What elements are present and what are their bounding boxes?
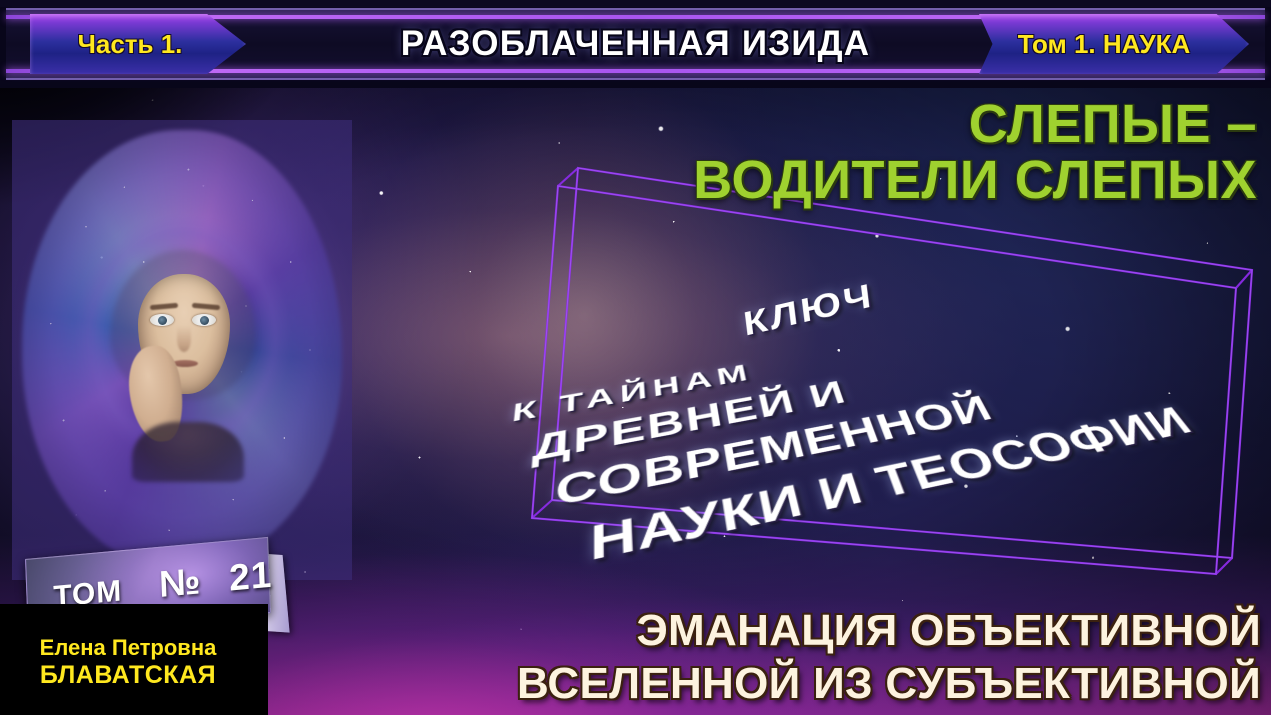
badge-volume-science[interactable]: Том 1. НАУКА <box>979 14 1249 74</box>
portrait-face <box>108 250 258 460</box>
author-name: Елена Петровна БЛАВАТСКАЯ <box>0 636 256 689</box>
portrait-pupil-right <box>200 316 209 325</box>
author-first-name: Елена Петровна <box>0 636 256 661</box>
frame-top-edge <box>0 0 1271 7</box>
header-bar-container: РАЗОБЛАЧЕННАЯ ИЗИДА Часть 1. Том 1. НАУК… <box>0 0 1271 88</box>
author-last-name: БЛАВАТСКАЯ <box>0 661 256 689</box>
headline-line-2: ВОДИТЕЛИ СЛЕПЫХ <box>457 152 1257 208</box>
headline-line-1: СЛЕПЫЕ – <box>457 96 1257 152</box>
badge-part-label: Часть 1. <box>78 29 183 60</box>
bottom-line-2: ВСЕЛЕННОЙ ИЗ СУБЪЕКТИВНОЙ <box>231 657 1261 711</box>
volume-number: 21 <box>228 554 273 599</box>
portrait-shoulder <box>132 422 244 482</box>
volume-number-sign: № <box>158 560 202 605</box>
subtitle-bottom: ЭМАНАЦИЯ ОБЪЕКТИВНОЙ ВСЕЛЕННОЙ ИЗ СУБЪЕК… <box>231 604 1261 711</box>
bottom-line-1: ЭМАНАЦИЯ ОБЪЕКТИВНОЙ <box>231 604 1261 658</box>
portrait-pupil-left <box>158 316 167 325</box>
slide-canvas: СЛЕПЫЕ – ВОДИТЕЛИ СЛЕПЫХ К ТАЙНАМ ДРЕВНЕ… <box>0 0 1271 715</box>
author-portrait <box>22 130 342 570</box>
badge-volume-label: Том 1. НАУКА <box>1018 29 1191 60</box>
badge-part-number[interactable]: Часть 1. <box>30 14 246 74</box>
portrait-nose <box>177 326 191 352</box>
page-title: СЛЕПЫЕ – ВОДИТЕЛИ СЛЕПЫХ <box>457 96 1257 208</box>
